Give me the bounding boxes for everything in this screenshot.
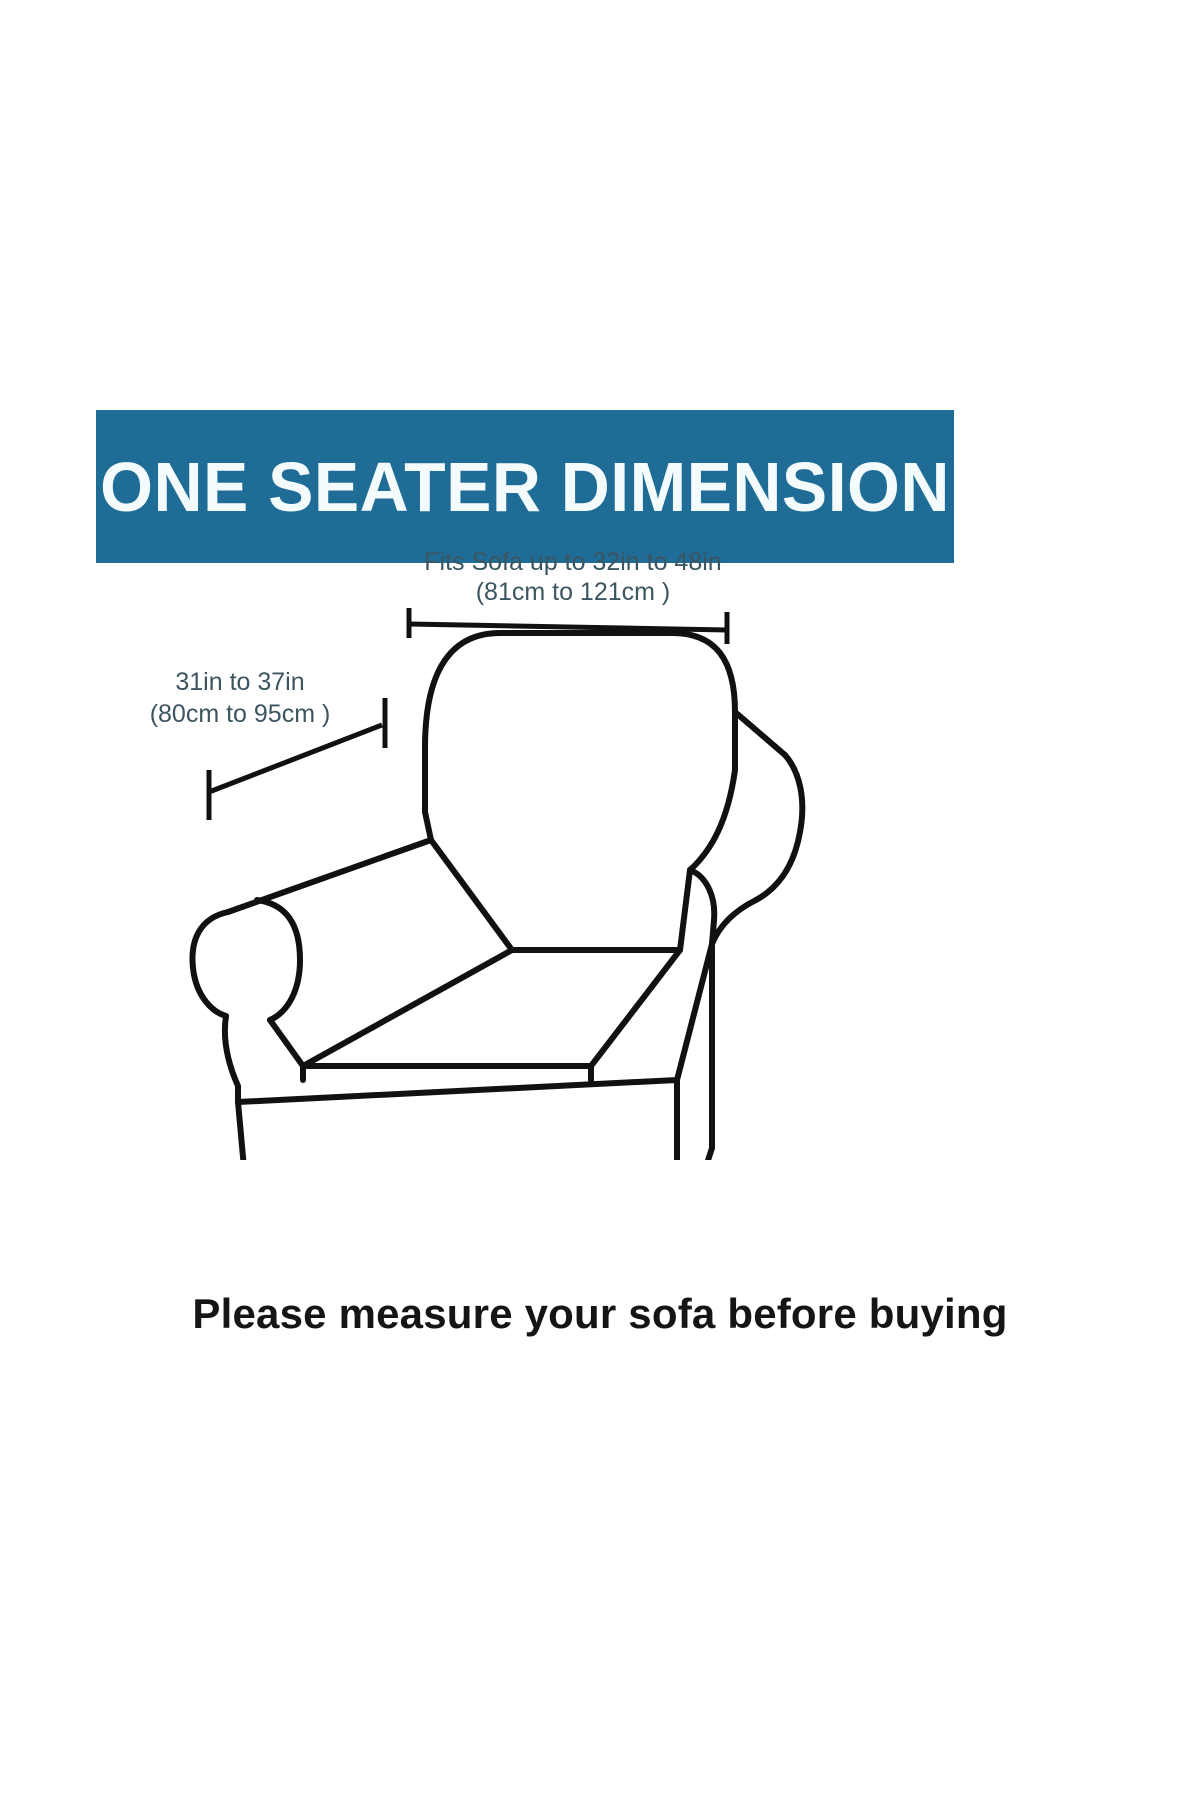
depth-dimension-centimeters-label: (80cm to 95cm ): [150, 700, 331, 728]
width-dimension-arrow: [409, 608, 727, 644]
sofa-right-arm-outer: [756, 755, 802, 900]
sofa-seat-left-edge: [303, 950, 512, 1066]
sofa-base-right-rear-vertical: [677, 1148, 712, 1160]
sofa-right-arm-roll-inner: [690, 870, 714, 944]
sofa-base-right-side-panel: [677, 944, 712, 1080]
sofa-backrest-left-edge: [425, 748, 431, 840]
measure-instruction-caption: Please measure your sofa before buying: [0, 1290, 1200, 1338]
sofa-left-arm-roll-outer: [192, 912, 228, 1016]
sofa-left-arm-front-bottom: [270, 1020, 303, 1066]
sofa-right-arm-inner-lower: [680, 870, 690, 950]
sofa-seat-back-left-edge: [431, 840, 512, 950]
sofa-seat-right-edge: [591, 950, 680, 1066]
sofa-base-left-vertical: [238, 1102, 252, 1160]
depth-dimension-inches-label: 31in to 37in: [175, 668, 304, 696]
sofa-right-arm-top-back: [735, 712, 785, 755]
sofa-right-arm-roll-front: [712, 900, 756, 944]
sofa-backrest-outline: [425, 633, 735, 770]
width-dimension-centimeters-label: (81cm to 121cm ): [476, 578, 671, 606]
width-dimension-inches-label: Fits Sofa up to 32in to 48in: [424, 548, 721, 576]
sofa-base-left-curve: [225, 1016, 238, 1102]
sofa-dimension-diagram: Fits Sofa up to 32in to 48in (81cm to 12…: [0, 520, 1200, 1160]
sofa-base-front-top-edge: [238, 1080, 677, 1102]
sofa-backrest-right-inner: [690, 770, 735, 870]
sofa-diagram-svg: Fits Sofa up to 32in to 48in (81cm to 12…: [0, 520, 1200, 1160]
banner-title: ONE SEATER DIMENSION: [100, 452, 950, 522]
sofa-left-arm-roll-inner: [257, 900, 300, 1020]
